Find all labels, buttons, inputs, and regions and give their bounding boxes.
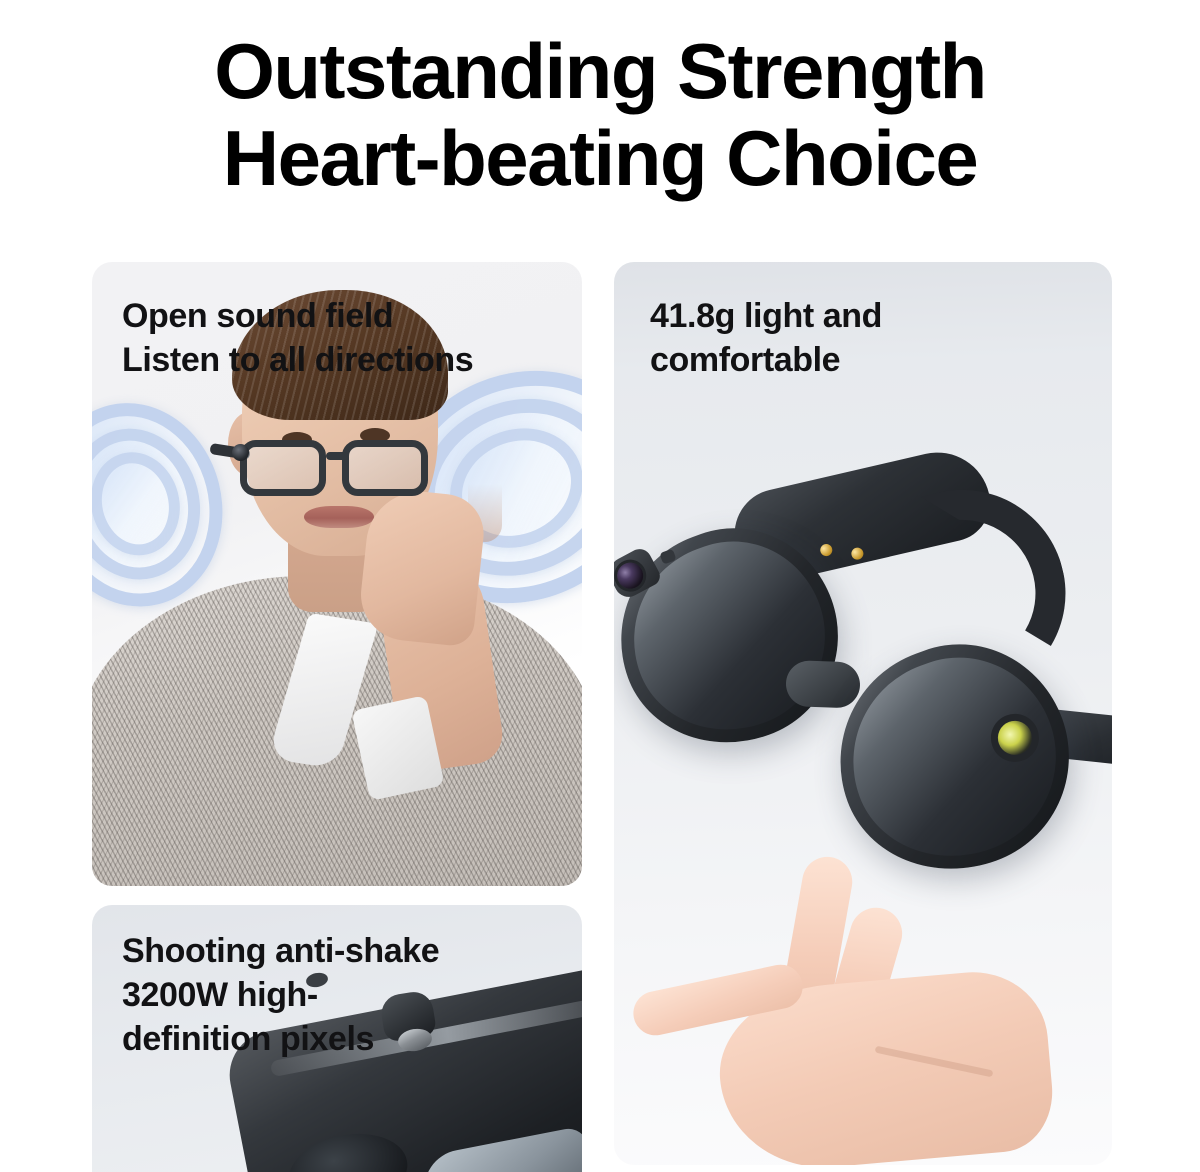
card-title-anti-shake: Shooting anti-shake 3200W high- definiti… — [122, 929, 439, 1062]
product-feature-poster: Outstanding Strength Heart-beating Choic… — [0, 0, 1200, 1172]
glasses-lens-lower — [808, 614, 1100, 901]
glasses-lens-right — [342, 440, 428, 496]
glasses-bridge — [785, 660, 861, 709]
card-title-open-sound-field: Open sound field Listen to all direction… — [122, 294, 473, 382]
card-title-lightweight: 41.8g light and comfortable — [650, 294, 882, 382]
glasses-lens-left — [240, 440, 326, 496]
feature-card-anti-shake[interactable]: Shooting anti-shake 3200W high- definiti… — [92, 905, 582, 1172]
camera-lens-icon — [232, 444, 249, 461]
lips — [304, 506, 374, 528]
feature-card-open-sound-field[interactable]: Open sound field Listen to all direction… — [92, 262, 582, 886]
open-hand — [624, 862, 1112, 1162]
headline-line-1: Outstanding Strength — [0, 28, 1200, 115]
feature-card-lightweight[interactable]: 41.8g light and comfortable — [614, 262, 1112, 1165]
glasses-bridge — [326, 452, 348, 460]
headline-line-2: Heart-beating Choice — [0, 115, 1200, 202]
smart-glasses-on-face — [238, 430, 452, 504]
photo-floating-smart-sunglasses — [614, 262, 1112, 1165]
page-title: Outstanding Strength Heart-beating Choic… — [0, 28, 1200, 203]
